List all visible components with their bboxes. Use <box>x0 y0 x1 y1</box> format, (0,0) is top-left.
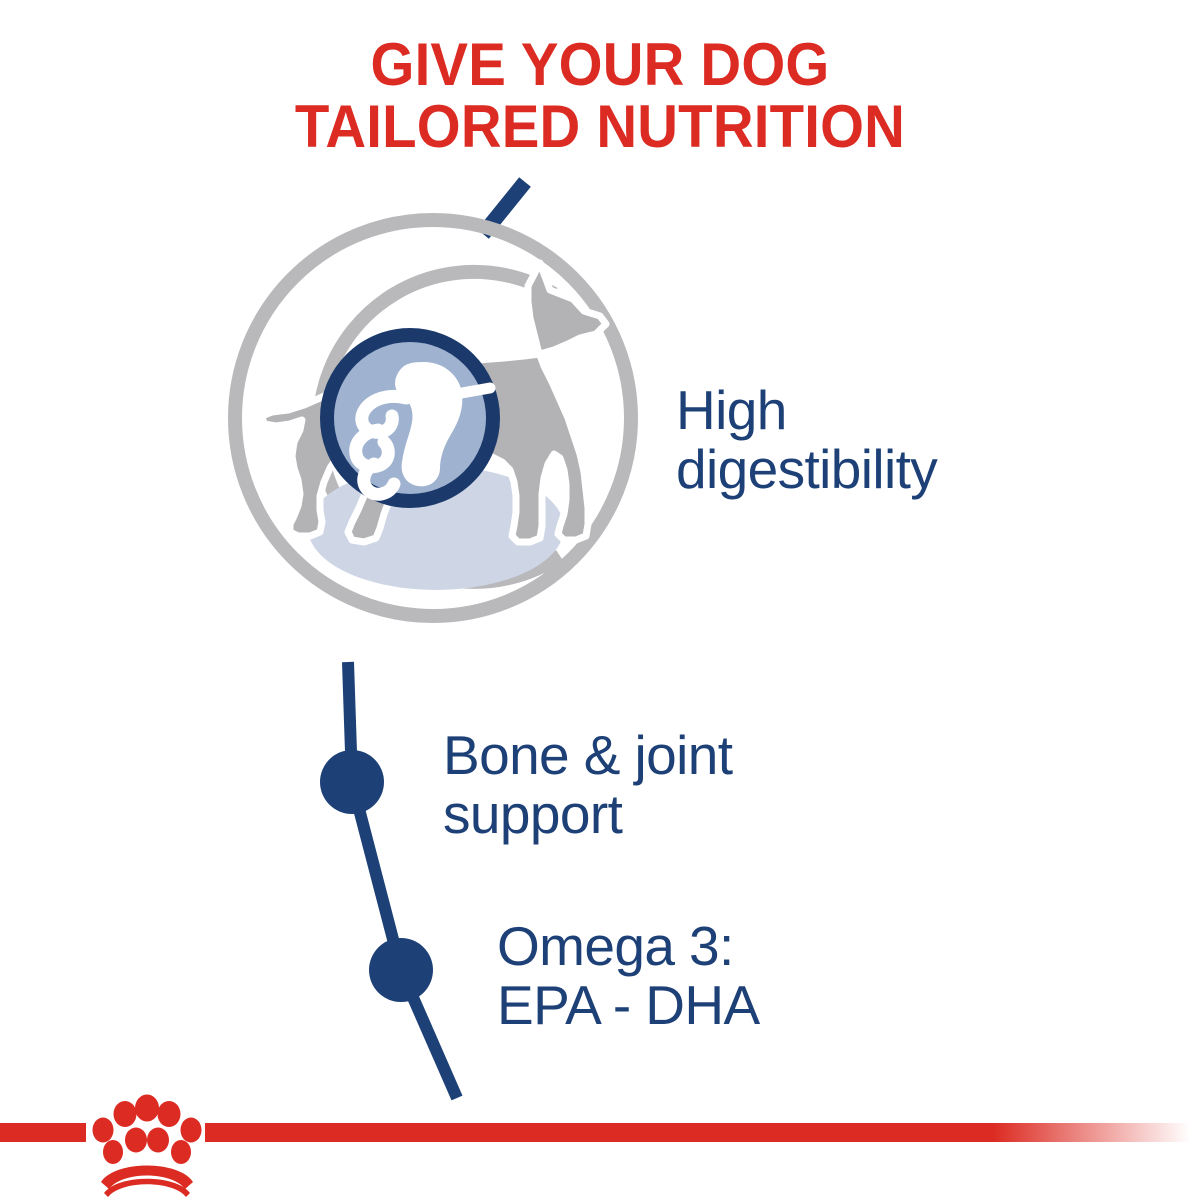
brand-rule-bar-left <box>0 1123 86 1142</box>
brand-footer <box>0 1090 1200 1200</box>
infographic-canvas: GIVE YOUR DOG TAILORED NUTRITION <box>0 0 1200 1200</box>
feature-label-high-digestibility: High digestibility <box>676 381 937 499</box>
digestive-tract-badge <box>327 335 493 501</box>
headline-line-2: TAILORED NUTRITION <box>36 96 1164 158</box>
dog-digestive-health-icon <box>228 168 648 658</box>
connector-dot-bone-joint <box>320 750 384 814</box>
headline-line-1: GIVE YOUR DOG <box>36 34 1164 96</box>
connector-dot-omega-3 <box>369 938 433 1002</box>
royal-canin-crown-logo <box>93 1095 202 1198</box>
brand-rule-bar-right <box>205 1123 1190 1142</box>
feature-connector-line <box>300 640 540 1120</box>
page-title: GIVE YOUR DOG TAILORED NUTRITION <box>36 34 1164 158</box>
